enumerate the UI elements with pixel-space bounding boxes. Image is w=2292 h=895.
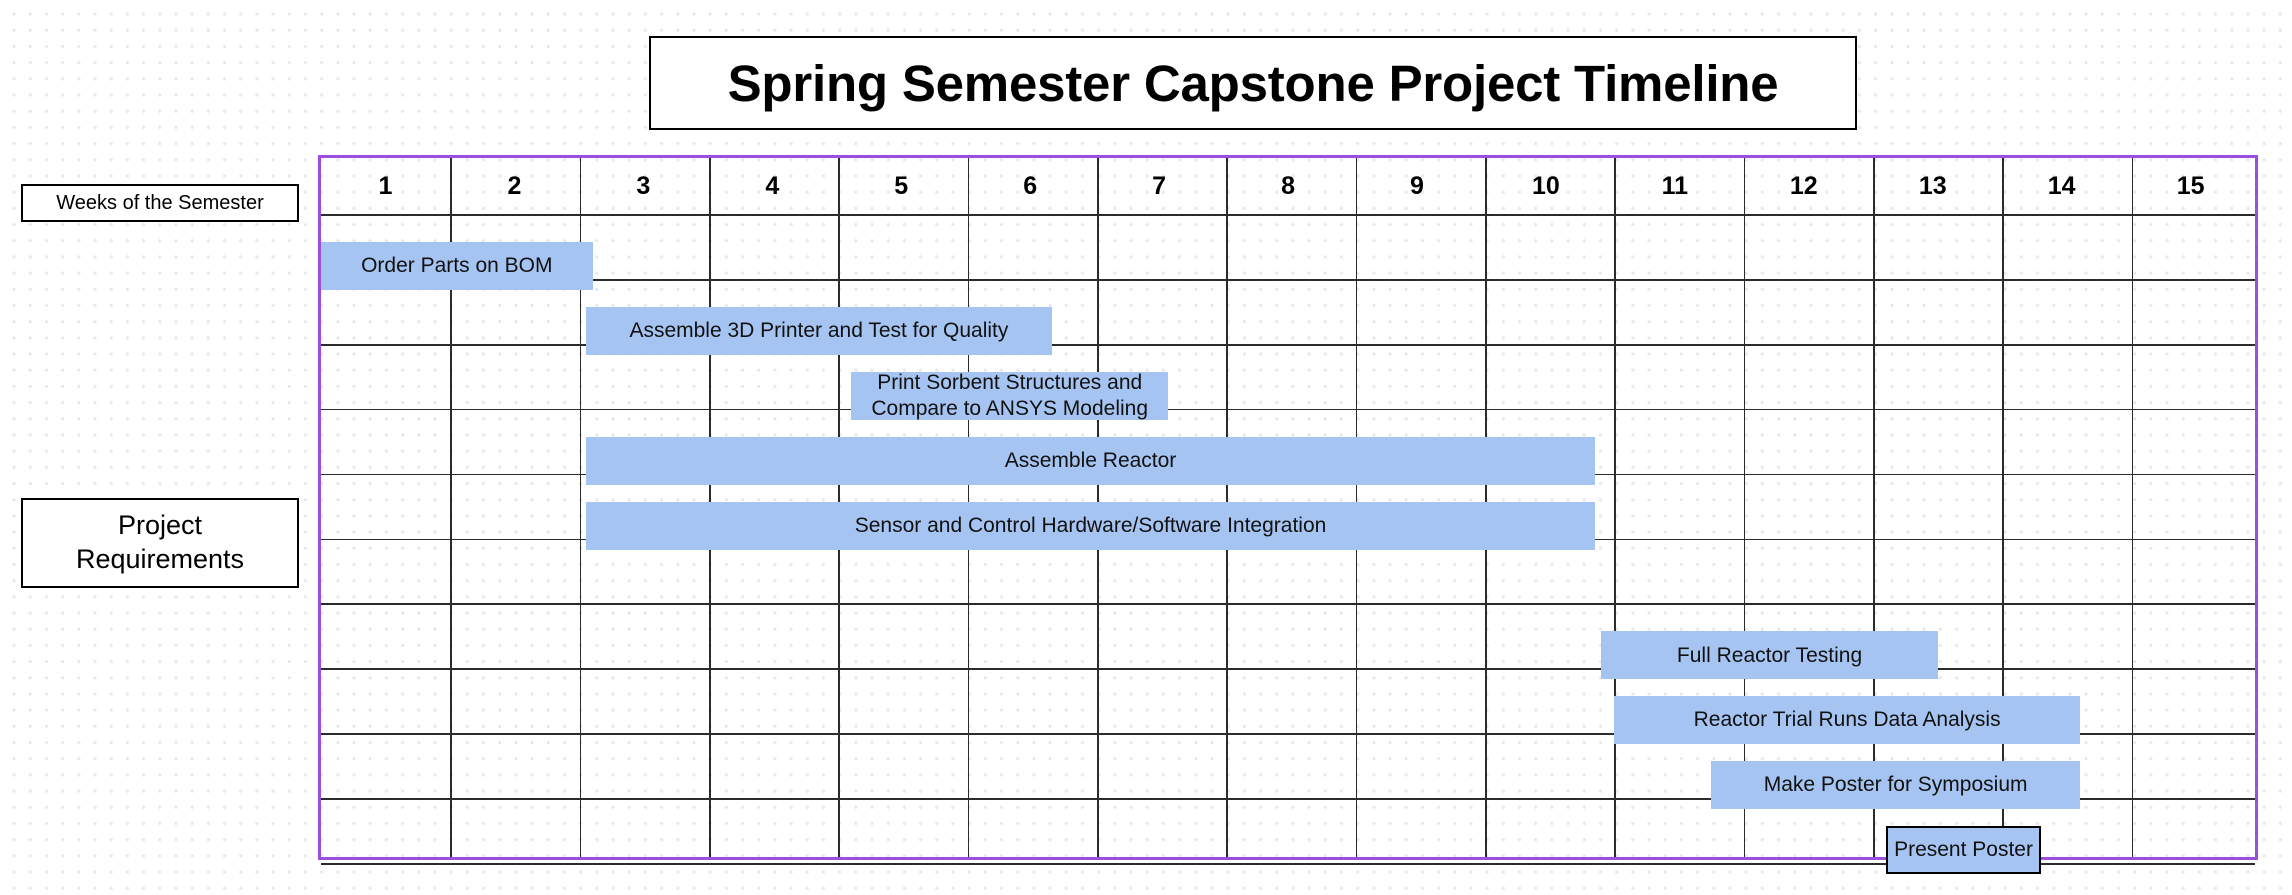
task-bar[interactable]: Order Parts on BOM — [321, 242, 593, 290]
task-bar[interactable]: Assemble Reactor — [586, 437, 1595, 485]
project-requirements-line-1: Project — [76, 509, 244, 543]
week-header-cell-2: 2 — [450, 158, 579, 214]
week-header-cell-6: 6 — [966, 158, 1095, 214]
week-header-cell-9: 9 — [1353, 158, 1482, 214]
grid-row-line — [321, 668, 2255, 670]
task-bar[interactable]: Reactor Trial Runs Data Analysis — [1614, 696, 2080, 744]
task-bar[interactable]: Make Poster for Symposium — [1711, 761, 2080, 809]
project-requirements-label: Project Requirements — [21, 498, 299, 588]
weeks-axis-label-text: Weeks of the Semester — [56, 192, 264, 215]
task-bar-label: Present Poster — [1894, 837, 2033, 863]
task-bar[interactable]: Sensor and Control Hardware/Software Int… — [586, 502, 1595, 550]
grid-row-line — [321, 279, 2255, 281]
grid-row-line — [321, 603, 2255, 605]
grid-column-line — [1614, 158, 1616, 857]
task-bar-label: Assemble Reactor — [1005, 448, 1177, 474]
project-requirements-label-text: Project Requirements — [76, 509, 244, 577]
task-bar[interactable]: Present Poster — [1886, 826, 2041, 874]
task-bar-label: Assemble 3D Printer and Test for Quality — [629, 318, 1008, 344]
grid-column-line — [1744, 158, 1746, 857]
gantt-grid-inner: 123456789101112131415 Order Parts on BOM… — [321, 158, 2255, 857]
grid-column-line — [2002, 158, 2004, 857]
task-bar-label: Make Poster for Symposium — [1764, 772, 2028, 798]
task-bar-label: Print Sorbent Structures and Compare to … — [857, 370, 1162, 421]
task-bar[interactable]: Print Sorbent Structures and Compare to … — [851, 372, 1168, 420]
task-bar[interactable]: Full Reactor Testing — [1601, 631, 1937, 679]
week-header-cell-1: 1 — [321, 158, 450, 214]
task-bar-label: Sensor and Control Hardware/Software Int… — [855, 513, 1327, 539]
week-header-cell-5: 5 — [837, 158, 966, 214]
grid-column-line — [1873, 158, 1875, 857]
chart-title-box: Spring Semester Capstone Project Timelin… — [649, 36, 1857, 130]
week-header-cell-10: 10 — [1481, 158, 1610, 214]
week-header-cell-3: 3 — [579, 158, 708, 214]
week-header-cell-13: 13 — [1868, 158, 1997, 214]
week-header-cell-14: 14 — [1997, 158, 2126, 214]
week-header-cell-15: 15 — [2126, 158, 2255, 214]
weeks-axis-label: Weeks of the Semester — [21, 184, 299, 222]
grid-header-divider — [321, 214, 2255, 216]
task-bar[interactable]: Assemble 3D Printer and Test for Quality — [586, 307, 1052, 355]
week-header-cell-7: 7 — [1095, 158, 1224, 214]
week-header-cell-4: 4 — [708, 158, 837, 214]
grid-row-line — [321, 409, 2255, 411]
task-bar-label: Order Parts on BOM — [361, 253, 552, 279]
week-header-cell-11: 11 — [1610, 158, 1739, 214]
week-header-row: 123456789101112131415 — [321, 158, 2255, 214]
task-bar-label: Reactor Trial Runs Data Analysis — [1694, 707, 2001, 733]
week-header-cell-8: 8 — [1224, 158, 1353, 214]
page-title: Spring Semester Capstone Project Timelin… — [728, 58, 1779, 109]
project-requirements-line-2: Requirements — [76, 543, 244, 577]
task-bar-label: Full Reactor Testing — [1677, 643, 1862, 669]
gantt-chart-grid: 123456789101112131415 Order Parts on BOM… — [318, 155, 2258, 860]
grid-column-line — [2132, 158, 2134, 857]
week-header-cell-12: 12 — [1739, 158, 1868, 214]
